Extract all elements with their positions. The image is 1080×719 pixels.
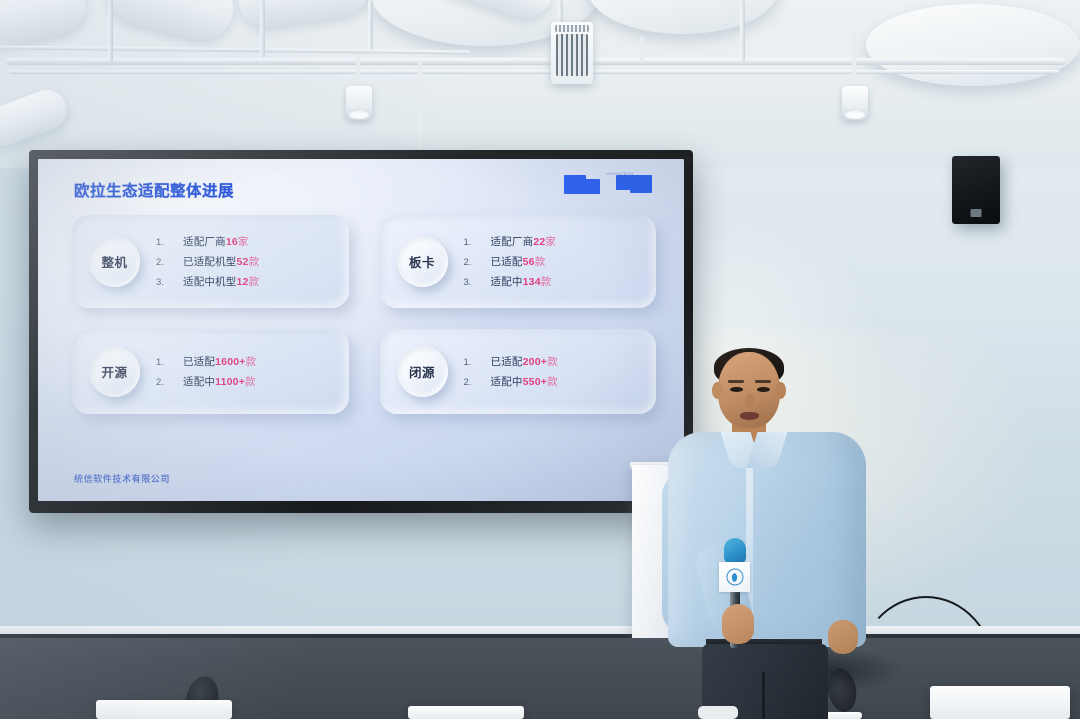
- spotlight-stem: [852, 28, 856, 88]
- list-item-text: 适配中1100+款: [183, 372, 256, 392]
- microphone-flag-logo-icon: [726, 569, 743, 586]
- card-badge: 闭源: [397, 346, 448, 397]
- presenter-ear-left: [712, 382, 723, 399]
- presenter-nose: [745, 394, 754, 407]
- card-badge: 整机: [89, 236, 140, 287]
- microphone-head: [724, 538, 746, 564]
- list-item-text: 适配中134款: [491, 272, 552, 292]
- list-item-number: 2.: [156, 373, 183, 393]
- ceiling-pipe-riser: [260, 0, 265, 58]
- ac-wall-unit: [551, 22, 593, 84]
- slide-card: 板卡 1. 适配厂商22家 2. 已适配56款: [380, 215, 657, 308]
- presenter-shoe: [698, 706, 738, 719]
- ceiling-pipe: [10, 70, 1060, 74]
- list-item: 2. 适配中1100+款: [156, 372, 256, 392]
- list-item-number: 2.: [464, 373, 491, 393]
- presenter: [660, 352, 890, 719]
- list-item-text: 已适配1600+款: [183, 352, 256, 372]
- list-item: 1. 已适配1600+款: [156, 352, 256, 372]
- presenter-hand-right: [828, 620, 858, 654]
- presenter-eyebrow-left: [728, 380, 744, 383]
- card-badge-label: 闭源: [409, 362, 435, 381]
- list-item: 2. 已适配机型52款: [156, 252, 259, 272]
- list-item-number: 2.: [156, 253, 183, 273]
- slide-card: 开源 1. 已适配1600+款 2. 适配中1100+款: [72, 329, 349, 414]
- list-item-text: 已适配200+款: [491, 352, 558, 372]
- slide-footer: 统信软件技术有限公司: [74, 472, 170, 485]
- list-item: 1. 适配厂商16家: [156, 232, 259, 252]
- list-item-number: 3.: [464, 273, 491, 293]
- ceiling-pipe-riser: [108, 0, 113, 62]
- list-item-number: 1.: [464, 353, 491, 373]
- list-item-number: 1.: [156, 353, 183, 373]
- wall-speaker: [952, 156, 1000, 224]
- list-item-text: 已适配机型52款: [183, 252, 259, 272]
- card-badge: 板卡: [397, 236, 448, 287]
- list-item-text: 已适配56款: [491, 252, 546, 272]
- presenter-eyebrow-right: [755, 380, 771, 383]
- ceiling-pipe-riser: [740, 0, 745, 62]
- presenter-eye-right: [757, 387, 770, 392]
- card-badge-label: 板卡: [409, 252, 435, 271]
- list-item-text: 适配中550+款: [491, 372, 558, 392]
- list-item-number: 1.: [464, 233, 491, 253]
- audience-chair: [408, 706, 524, 719]
- list-item-number: 3.: [156, 273, 183, 293]
- list-item-text: 适配厂商22家: [491, 232, 557, 252]
- wall-display[interactable]: 欧拉生态适配整体进展 UNIONTECH 整机 1. 适: [29, 150, 693, 513]
- slide-card: 闭源 1. 已适配200+款 2. 适配中550+款: [380, 329, 657, 414]
- slide-card-grid: 整机 1. 适配厂商16家 2. 已适配机型52款: [72, 215, 656, 435]
- list-item: 3. 适配中机型12款: [156, 272, 259, 292]
- spotlight-stem: [418, 62, 422, 158]
- card-badge-label: 开源: [101, 362, 127, 381]
- slide-title: 欧拉生态适配整体进展: [74, 179, 234, 201]
- presenter-hand-left: [722, 604, 754, 644]
- uniontech-logo: UNIONTECH: [564, 173, 660, 195]
- track-spotlight: [842, 86, 868, 120]
- screenshot-root: 欧拉生态适配整体进展 UNIONTECH 整机 1. 适: [0, 0, 1080, 719]
- card-row: 整机 1. 适配厂商16家 2. 已适配机型52款: [72, 215, 656, 308]
- spotlight-stem: [356, 56, 360, 88]
- logo-wordmark: UNIONTECH: [594, 172, 646, 176]
- presenter-mouth: [740, 412, 759, 420]
- card-item-list: 1. 已适配200+款 2. 适配中550+款: [464, 352, 558, 392]
- list-item: 2. 适配中550+款: [464, 372, 558, 392]
- list-item: 3. 适配中134款: [464, 272, 557, 292]
- track-spotlight: [346, 86, 372, 120]
- list-item: 2. 已适配56款: [464, 252, 557, 272]
- list-item-text: 适配中机型12款: [183, 272, 259, 292]
- presenter-ear-right: [775, 382, 786, 399]
- audience-chair: [930, 686, 1070, 719]
- ceiling-pipe-riser: [368, 0, 373, 50]
- list-item-number: 1.: [156, 233, 183, 253]
- ceiling-pipe: [6, 58, 1066, 65]
- trouser-seam: [762, 672, 765, 719]
- card-badge-label: 整机: [101, 252, 127, 271]
- microphone-flag: [719, 562, 750, 592]
- audience-chair: [96, 700, 232, 719]
- list-item: 1. 适配厂商22家: [464, 232, 557, 252]
- card-row: 开源 1. 已适配1600+款 2. 适配中1100+款: [72, 329, 656, 414]
- list-item-number: 2.: [464, 253, 491, 273]
- presenter-eye-left: [730, 387, 743, 392]
- list-item-text: 适配厂商16家: [183, 232, 249, 252]
- list-item: 1. 已适配200+款: [464, 352, 558, 372]
- card-item-list: 1. 适配厂商16家 2. 已适配机型52款 3. 适配中机型12款: [156, 232, 259, 292]
- card-item-list: 1. 已适配1600+款 2. 适配中1100+款: [156, 352, 256, 392]
- presentation-screen: 欧拉生态适配整体进展 UNIONTECH 整机 1. 适: [38, 159, 684, 501]
- slide-card: 整机 1. 适配厂商16家 2. 已适配机型52款: [72, 215, 349, 308]
- spotlight-stem: [640, 36, 644, 62]
- card-badge: 开源: [89, 346, 140, 397]
- card-item-list: 1. 适配厂商22家 2. 已适配56款 3. 适配中134款: [464, 232, 557, 292]
